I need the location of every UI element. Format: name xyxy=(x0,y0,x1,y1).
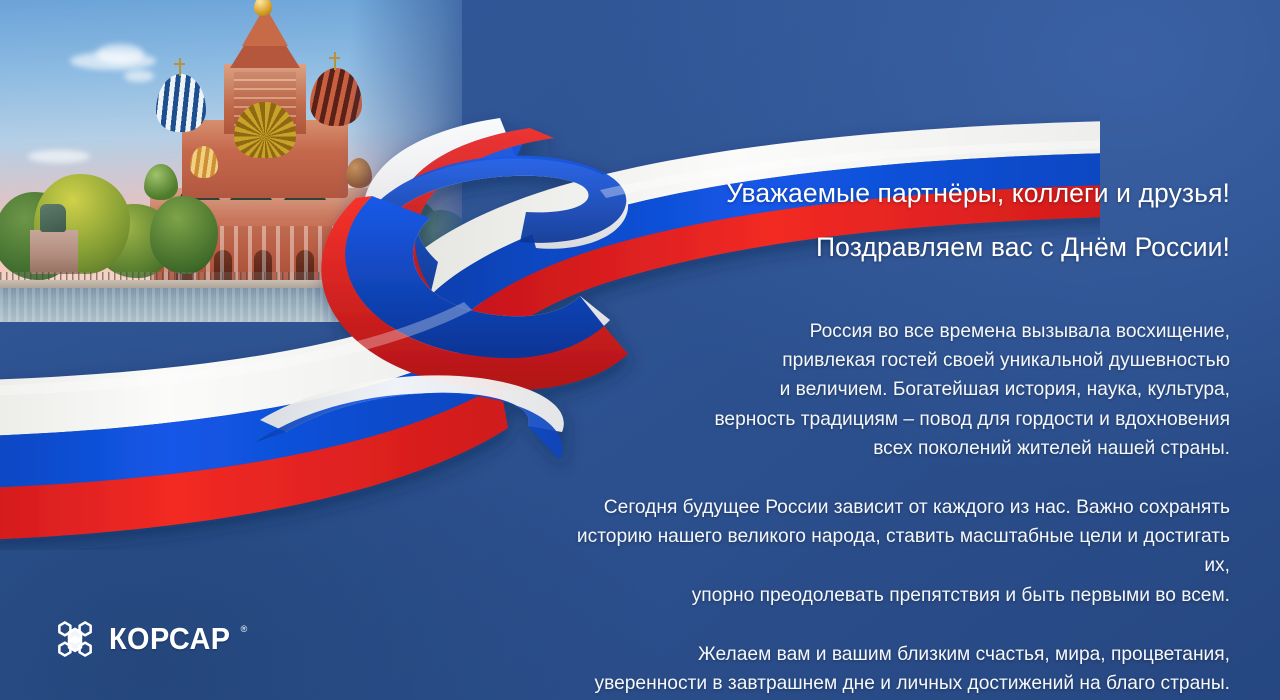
green-dome xyxy=(144,164,178,200)
cloud xyxy=(96,44,144,64)
paragraph-3-line: уверенности в завтрашнем дне и личных до… xyxy=(570,669,1230,698)
dark-red-striped-dome xyxy=(310,68,362,126)
moskva-river xyxy=(0,288,462,322)
blue-striped-onion-dome xyxy=(156,74,206,132)
hexagon-cluster-icon xyxy=(52,616,98,662)
paragraph-1-line: Россия во все времена вызывала восхищени… xyxy=(570,317,1230,346)
monument-pedestal xyxy=(30,230,78,274)
paragraph-2-line: упорно преодолевать препятствия и быть п… xyxy=(570,581,1230,610)
tree xyxy=(414,210,462,276)
golden-cupola-icon xyxy=(254,0,272,16)
greeting-line-2: Поздравляем вас с Днём России! xyxy=(570,230,1230,266)
monument-statue xyxy=(40,204,66,232)
greeting-line-1: Уважаемые партнёры, коллеги и друзья! xyxy=(570,176,1230,212)
cathedral-photo xyxy=(0,0,462,322)
cloud xyxy=(28,150,90,163)
logo-text: КОРСАР xyxy=(109,621,230,657)
greeting-card: Уважаемые партнёры, коллеги и друзья! По… xyxy=(0,0,1280,700)
paragraph-2-line: Сегодня будущее России зависит от каждог… xyxy=(570,493,1230,522)
tree xyxy=(150,196,218,274)
paragraph-2-line: историю нашего великого народа, ставить … xyxy=(570,522,1230,580)
greeting-text-block: Уважаемые партнёры, коллеги и друзья! По… xyxy=(570,176,1230,700)
paragraph-1-line: привлекая гостей своей уникальной душевн… xyxy=(570,346,1230,375)
company-logo[interactable]: КОРСАР ® xyxy=(52,616,247,662)
paragraph-3: Желаем вам и вашим близким счастья, мира… xyxy=(570,640,1230,698)
paragraph-2: Сегодня будущее России зависит от каждог… xyxy=(570,493,1230,610)
paragraph-1-line: верность традициям – повод для гордости … xyxy=(570,405,1230,434)
paragraph-1-line: и величием. Богатейшая история, наука, к… xyxy=(570,375,1230,404)
paragraph-3-line: Желаем вам и вашим близким счастья, мира… xyxy=(570,640,1230,669)
paragraph-1-line: всех поколений жителей нашей страны. xyxy=(570,434,1230,463)
logo-wordmark: КОРСАР ® xyxy=(109,621,247,657)
paragraph-1: Россия во все времена вызывала восхищени… xyxy=(570,317,1230,463)
registered-trademark-icon: ® xyxy=(241,624,248,634)
small-orange-dome xyxy=(346,158,372,188)
